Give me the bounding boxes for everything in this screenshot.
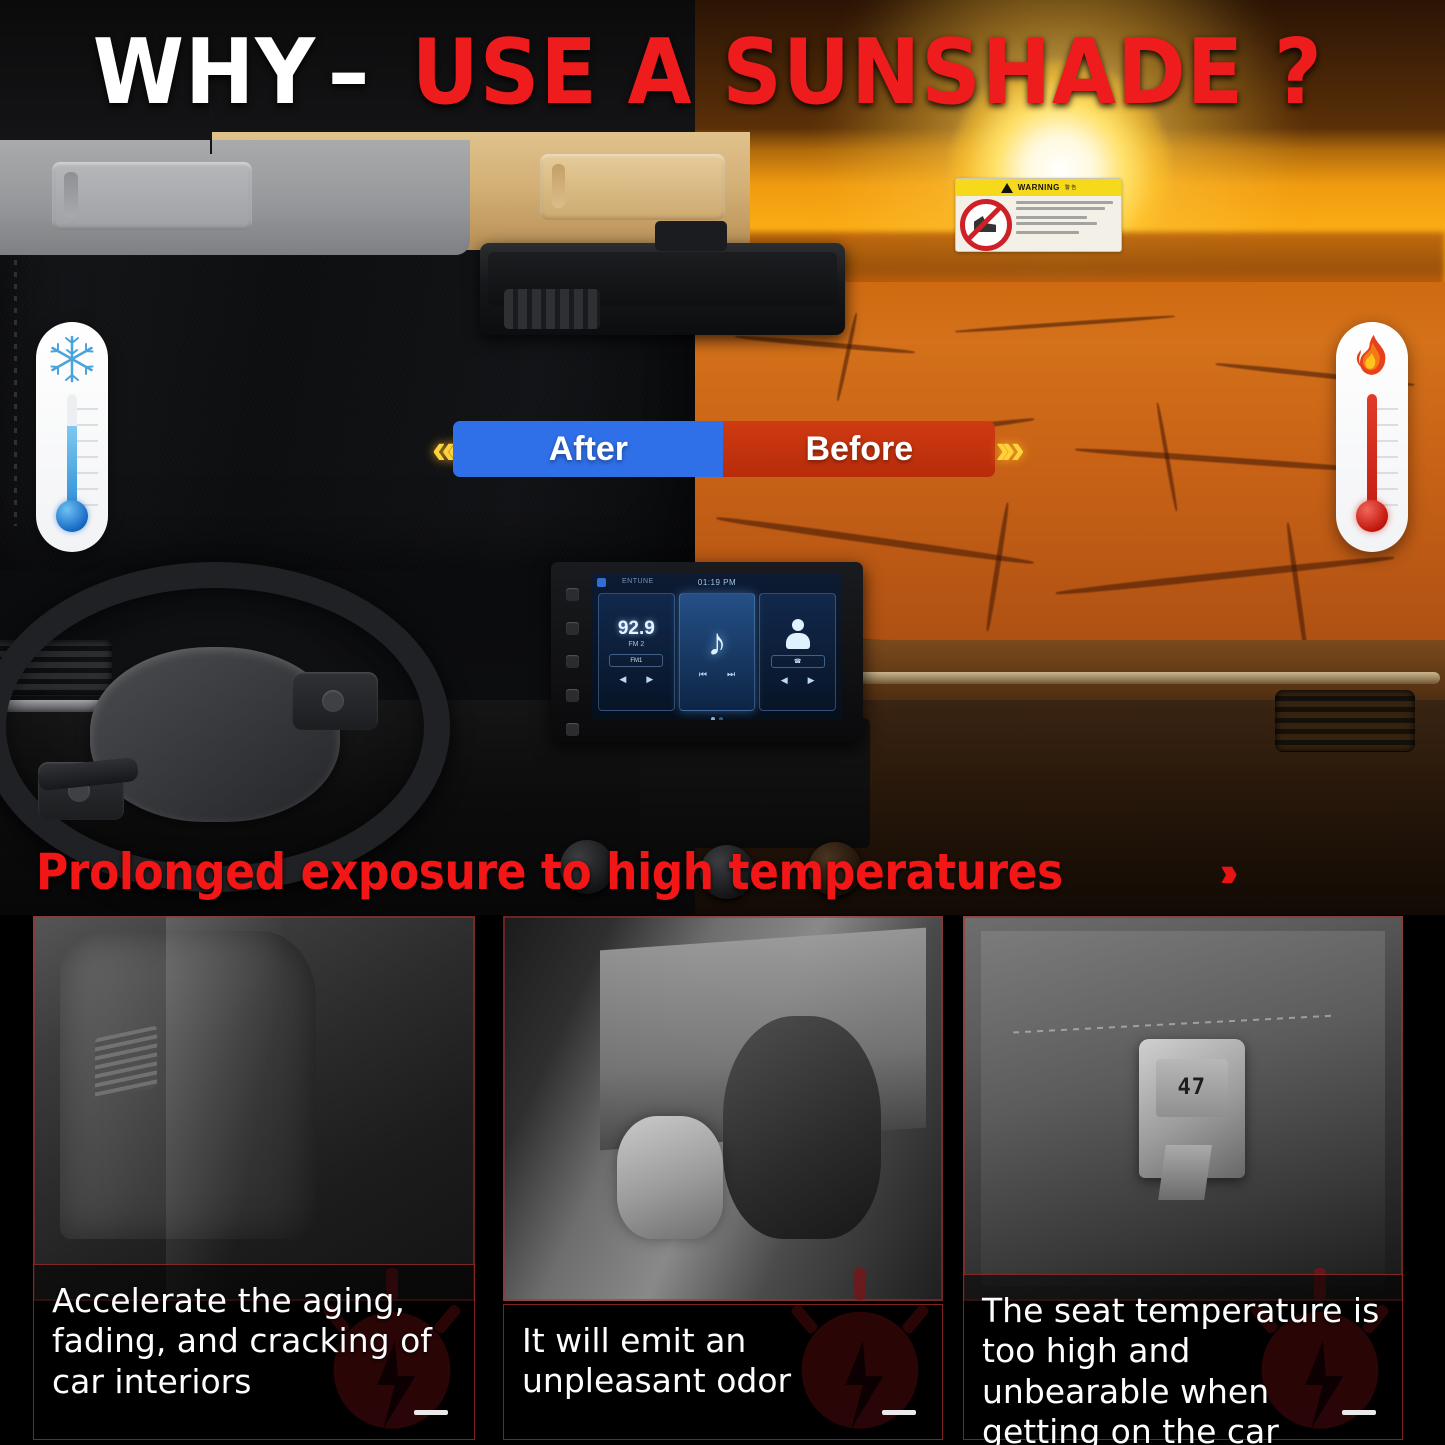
cold-thermometer: [36, 322, 108, 552]
hot-thermometer-bulb: [1356, 500, 1388, 532]
media-prev-icon[interactable]: ⏮: [699, 669, 707, 680]
snowflake-icon: [47, 334, 97, 384]
title-use-a-sunshade: USE A SUNSHADE ?: [411, 28, 1322, 118]
consequence-cards: Accelerate the aging, fading, and cracki…: [0, 916, 1445, 1445]
left-visor-pocket: [52, 162, 252, 230]
eject-key[interactable]: [566, 723, 579, 736]
right-visor-slot: [552, 164, 565, 208]
title-why: WHY: [93, 28, 316, 118]
caption-text-1: Accelerate the aging, fading, and cracki…: [52, 1281, 456, 1402]
clock: 01:19 PM: [698, 578, 736, 587]
steering-buttons-right: [292, 672, 378, 730]
hero-comparison-image: WARNING 警 告: [0, 0, 1445, 915]
warning-heading: WARNING: [1018, 183, 1060, 192]
right-air-vent: [1275, 690, 1415, 752]
radio-frequency: 92.9: [618, 619, 655, 638]
airbag-warning-label: WARNING 警 告: [955, 178, 1122, 252]
photo-frame-2: [503, 916, 943, 1301]
cold-thermometer-bulb: [56, 500, 88, 532]
card-interior-aging: Accelerate the aging, fading, and cracki…: [33, 916, 475, 1445]
photo-frame-3: [963, 916, 1403, 1301]
preset-chip[interactable]: FM1: [609, 654, 663, 667]
hot-thermometer: [1336, 322, 1408, 552]
media-controls: ⏮ ⏭: [699, 669, 735, 680]
subheadline-arrows-icon: ›››: [1220, 848, 1230, 896]
bluetooth-icon: [597, 578, 606, 587]
card-seat-temperature: 47 The seat temperature is too high and …: [963, 916, 1403, 1445]
call-chip[interactable]: ☎: [771, 655, 825, 668]
home-key[interactable]: [566, 622, 579, 635]
caption-rule-2: [882, 1410, 916, 1415]
seek-next-icon[interactable]: ▶: [646, 674, 653, 685]
subheadline: Prolonged exposure to high temperatures …: [0, 836, 1445, 908]
mirror-ribbed-housing: [504, 289, 600, 329]
phone-tile[interactable]: ☎ ◀ ▶: [759, 593, 836, 711]
menu-key[interactable]: [566, 689, 579, 702]
photo-frame-1: [33, 916, 475, 1301]
page-title: WHY – USE A SUNSHADE ?: [0, 18, 1445, 128]
cold-thermometer-tube: [67, 394, 77, 509]
warning-triangle-icon: [1001, 183, 1013, 193]
power-key[interactable]: [566, 588, 579, 601]
infographic-page: WARNING 警 告: [0, 0, 1445, 1445]
page-dot-inactive[interactable]: [719, 717, 723, 721]
person-icon: [786, 619, 810, 649]
media-tile[interactable]: ♪ ⏮ ⏭: [679, 593, 756, 711]
caption-text-2: It will emit an unpleasant odor: [522, 1321, 924, 1402]
caption-box-1: Accelerate the aging, fading, and cracki…: [33, 1264, 475, 1440]
card-unpleasant-odor: It will emit an unpleasant odor: [503, 916, 943, 1445]
infotainment-head-unit: ENTUNE 01:19 PM 92.9 FM 2 FM1 ◀ ▶ ♪: [551, 562, 863, 742]
child-seat-glyph: [974, 216, 996, 232]
left-visor-slot: [64, 172, 78, 218]
mirror-mount: [655, 221, 727, 251]
seek-prev-icon[interactable]: ◀: [619, 674, 626, 685]
hot-thermometer-tube: [1367, 394, 1377, 509]
right-visor-pocket: [540, 154, 725, 220]
right-chevron-icon: ›»: [995, 428, 1016, 470]
screen-tiles: 92.9 FM 2 FM1 ◀ ▶ ♪ ⏮ ⏭: [592, 590, 842, 714]
phone-prev-icon[interactable]: ◀: [781, 675, 788, 686]
page-dot-active[interactable]: [711, 717, 715, 721]
media-next-icon[interactable]: ⏭: [727, 669, 735, 680]
radio-band: FM 2: [628, 641, 644, 648]
caption-rule-3: [1342, 1410, 1376, 1415]
rearview-mirror: [480, 243, 845, 335]
head-unit-screen[interactable]: ENTUNE 01:19 PM 92.9 FM 2 FM1 ◀ ▶ ♪: [592, 574, 842, 720]
after-badge[interactable]: After: [453, 421, 723, 477]
radio-seek-controls: ◀ ▶: [619, 674, 653, 685]
left-sun-visor: [0, 140, 470, 255]
caption-box-2: It will emit an unpleasant odor: [503, 1304, 943, 1440]
caption-box-3: The seat temperature is too high and unb…: [963, 1274, 1403, 1440]
head-unit-hard-keys: [554, 568, 590, 756]
warning-label-body: [956, 196, 1121, 252]
subheadline-text: Prolonged exposure to high temperatures: [36, 843, 1063, 901]
caption-rule-1: [414, 1410, 448, 1415]
left-chevron-icon: «‹: [432, 428, 453, 470]
title-dash: –: [327, 28, 369, 118]
phone-next-icon[interactable]: ▶: [808, 675, 815, 686]
before-badge[interactable]: Before: [723, 421, 995, 477]
flame-icon: [1350, 334, 1394, 386]
warning-text-lines: [1016, 199, 1117, 251]
phone-controls: ◀ ▶: [781, 675, 815, 686]
before-after-toggle: «‹ After Before ›»: [432, 416, 940, 482]
music-note-icon: ♪: [708, 624, 727, 662]
no-child-seat-icon: [960, 199, 1012, 251]
warning-cjk-text: 警 告: [1065, 184, 1076, 191]
source-name: ENTUNE: [622, 578, 654, 585]
page-indicator: [592, 714, 842, 720]
radio-tile[interactable]: 92.9 FM 2 FM1 ◀ ▶: [598, 593, 675, 711]
caption-text-3: The seat temperature is too high and unb…: [982, 1291, 1384, 1445]
volume-key[interactable]: [566, 655, 579, 668]
status-bar: ENTUNE 01:19 PM: [592, 574, 842, 590]
warning-label-header: WARNING 警 告: [956, 179, 1121, 196]
